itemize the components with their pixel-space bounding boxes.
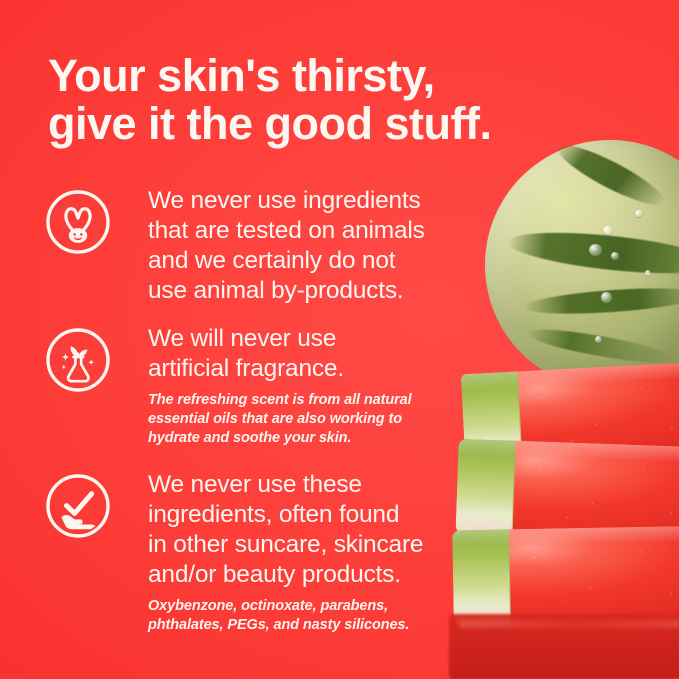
rind-stripe [522, 284, 679, 319]
headline-line-1: Your skin's thirsty, [48, 50, 435, 101]
water-droplet [595, 336, 602, 343]
feature-subtext: Oxybenzone, octinoxate, parabens, phthal… [148, 597, 498, 636]
water-droplet [611, 252, 619, 260]
rind-stripe [506, 225, 679, 281]
headline-line-2: give it the good stuff. [48, 100, 498, 148]
water-droplet [601, 292, 612, 303]
whole-watermelon [485, 140, 679, 390]
rind-stripe [550, 136, 672, 213]
water-droplet [645, 270, 651, 276]
cruelty-free-bunny-icon [44, 188, 112, 256]
feature-no-artificial-fragrance: We will never use artificial fragrance. … [44, 324, 498, 449]
water-droplet [603, 226, 612, 235]
feature-heading: We never use ingredients that are tested… [148, 186, 498, 306]
hand-checkmark-icon [44, 472, 112, 540]
feature-no-bad-ingredients: We never use these ingredients, often fo… [44, 470, 498, 635]
feature-cruelty-free: We never use ingredients that are tested… [44, 186, 498, 306]
promo-poster: Your skin's thirsty, give it the good st… [0, 0, 679, 679]
water-droplet [635, 210, 642, 217]
water-droplet [589, 244, 602, 256]
feature-subtext: The refreshing scent is from all natural… [148, 391, 498, 449]
natural-flask-leaf-icon [44, 326, 112, 394]
content-column: Your skin's thirsty, give it the good st… [0, 0, 500, 679]
feature-heading: We will never use artificial fragrance. [148, 324, 498, 384]
rind-stripe [524, 323, 675, 369]
feature-heading: We never use these ingredients, often fo… [148, 470, 498, 590]
page-title: Your skin's thirsty, give it the good st… [48, 52, 498, 147]
